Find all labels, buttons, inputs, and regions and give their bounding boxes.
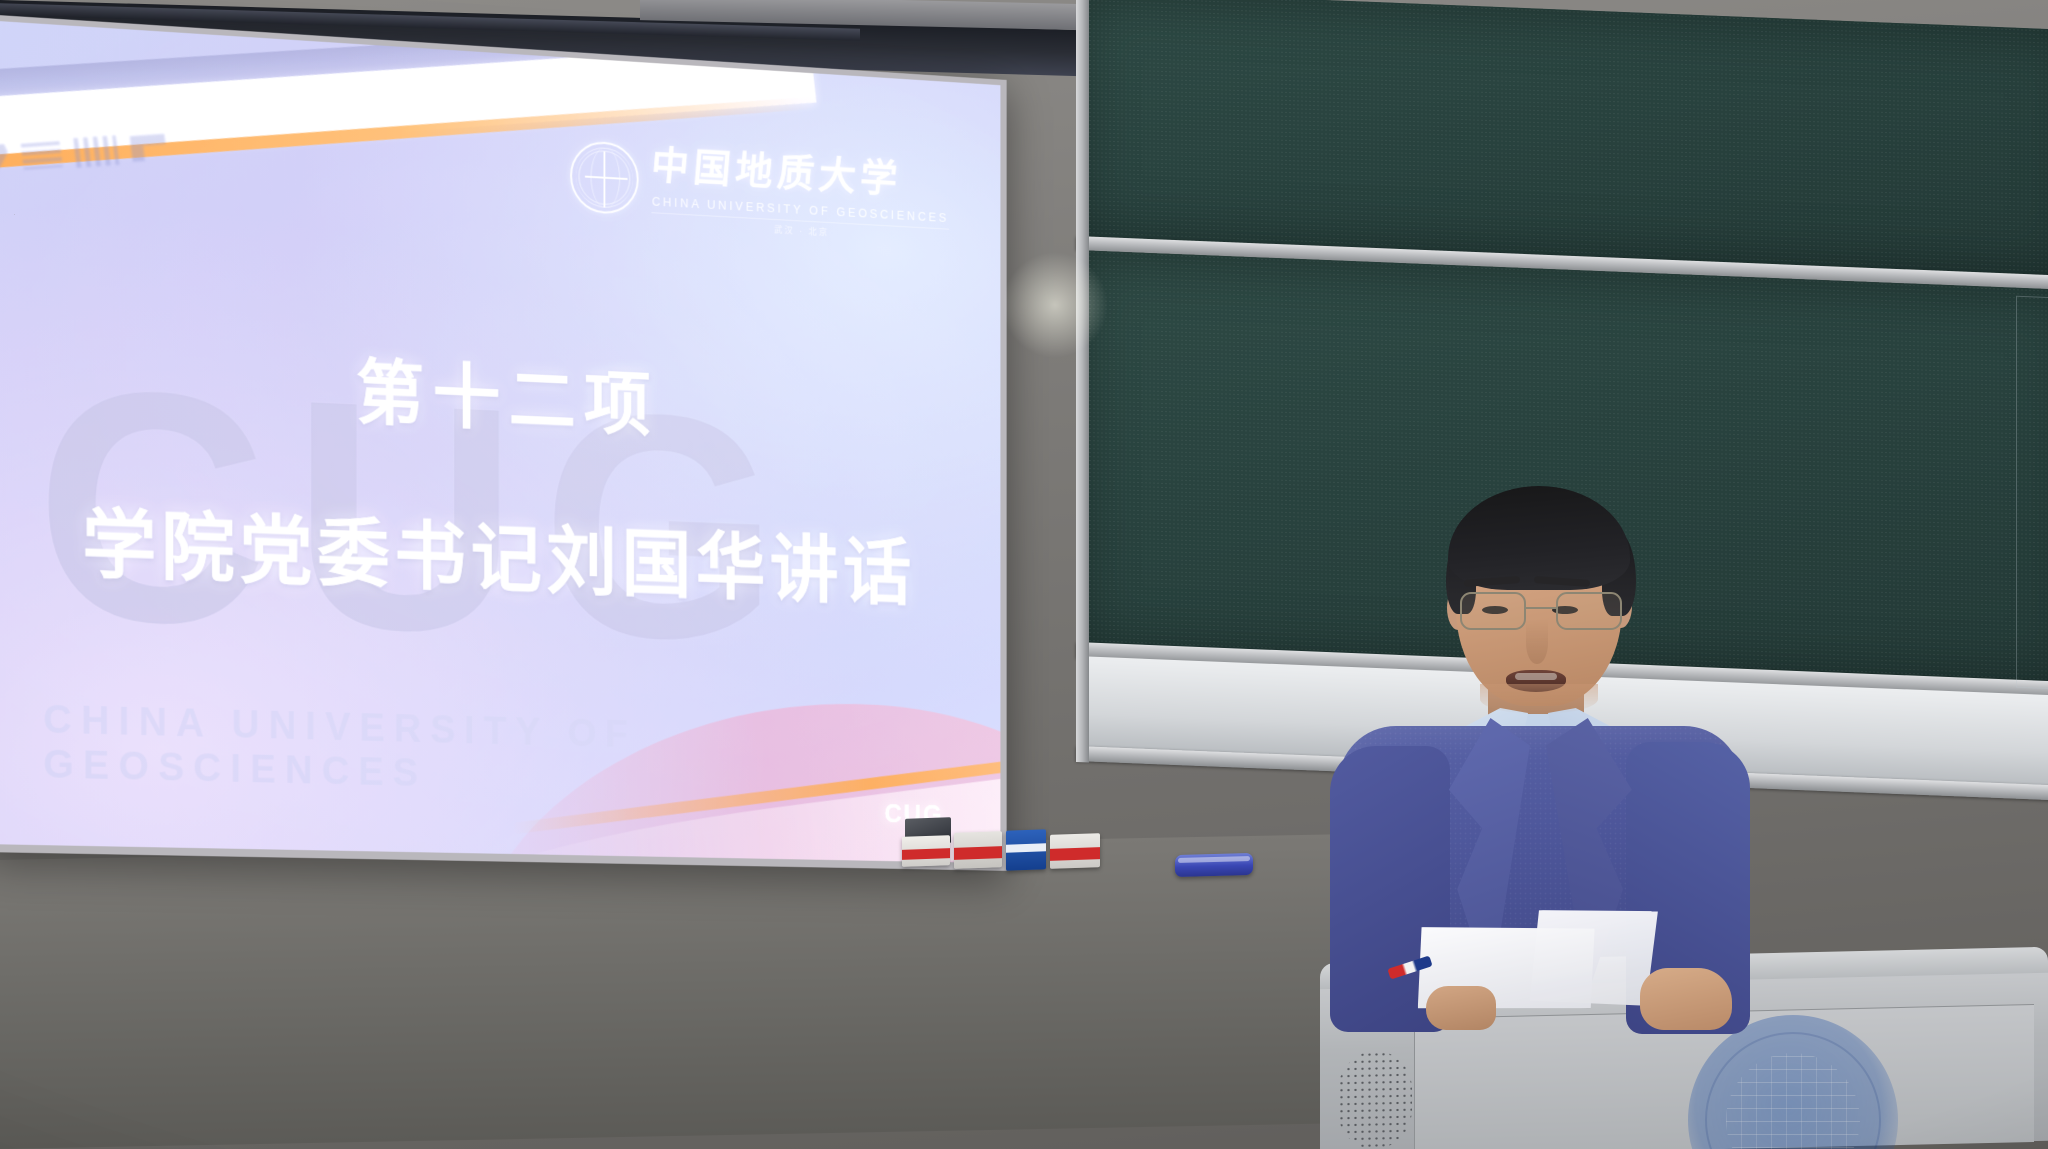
board-eraser[interactable] [1175, 853, 1253, 877]
speaker-person [1330, 470, 1750, 1030]
speaker-nose [1526, 620, 1548, 664]
cug-seal-icon [571, 140, 639, 215]
chalk-box-red-2[interactable] [954, 831, 1002, 869]
speaker-chin [1480, 684, 1598, 714]
speaker-hand-left [1426, 986, 1496, 1030]
speaker-hand-right [1640, 968, 1732, 1030]
chalk-box-blue[interactable] [1006, 829, 1046, 870]
slide-watermark-cug: CUG [35, 354, 801, 673]
presentation-slide: CUG CHINA UNIVERSITY OF GEOSCIENCES 中国地质… [0, 20, 1000, 863]
slide-title-line2: 学院党委书记刘国华讲话 [0, 479, 1000, 622]
cug-university-logo: 中国地质大学 CHINA UNIVERSITY OF GEOSCIENCES 武… [571, 127, 949, 244]
speaker-grille-icon [1338, 1050, 1412, 1149]
logo-chinese-name: 中国地质大学 [649, 132, 951, 206]
chalk-box-red-3[interactable] [1050, 833, 1100, 869]
speaker-hair [1448, 486, 1630, 590]
blackboard-mullion-left [1076, 0, 1089, 763]
blackboard-panel-top [1076, 0, 2048, 280]
slide-title-line1: 第十二项 [0, 316, 1000, 464]
projection-screen: CUG CHINA UNIVERSITY OF GEOSCIENCES 中国地质… [0, 14, 1007, 871]
blackboard-slider-panel[interactable] [2016, 296, 2048, 690]
chalk-box-red-1[interactable] [902, 835, 950, 867]
lecture-hall-photo: CUG CHINA UNIVERSITY OF GEOSCIENCES 中国地质… [0, 0, 2048, 1149]
slide-title-group: 第十二项 学院党委书记刘国华讲话 [0, 316, 1000, 622]
screen-frame: CUG CHINA UNIVERSITY OF GEOSCIENCES 中国地质… [0, 14, 1007, 871]
